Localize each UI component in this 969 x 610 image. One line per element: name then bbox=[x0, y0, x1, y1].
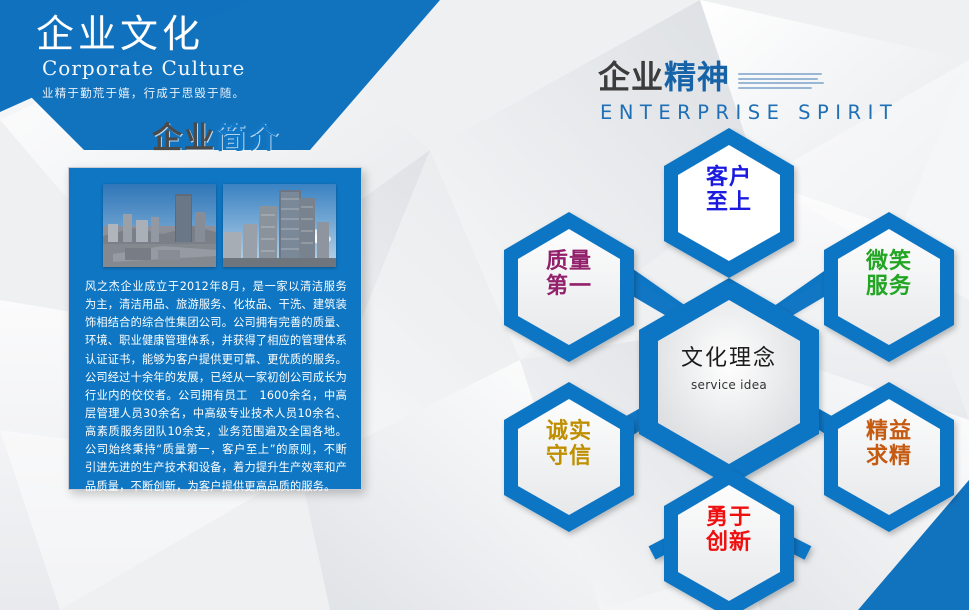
spirit-title-cn-part1: 企业 bbox=[598, 52, 664, 98]
banner-title-en: Corporate Culture bbox=[42, 56, 366, 80]
hexagon-smile-service[interactable] bbox=[824, 212, 954, 362]
photo-row bbox=[103, 184, 336, 267]
center-title-cn: 文化理念 bbox=[639, 340, 819, 372]
company-intro-text: 风之杰企业成立于2012年8月，是一家以清洁服务为主，清洁用品、旅游服务、化妆品… bbox=[85, 278, 347, 496]
center-title-en: service idea bbox=[639, 378, 819, 392]
spirit-title-en: ENTERPRISE SPIRIT bbox=[600, 101, 898, 124]
hexagon-integrity[interactable] bbox=[504, 382, 634, 532]
intro-heading-part2: 简介 bbox=[216, 121, 280, 156]
intro-heading: 企业简介 bbox=[152, 113, 280, 157]
city-towers-photo bbox=[223, 184, 336, 267]
company-intro-panel: 风之杰企业成立于2012年8月，是一家以清洁服务为主，清洁用品、旅游服务、化妆品… bbox=[68, 167, 362, 490]
decorative-microtext bbox=[738, 73, 824, 91]
hexagon-customer-first[interactable] bbox=[664, 128, 794, 278]
spirit-title-cn-part2: 精神 bbox=[664, 52, 730, 98]
hexagon-excellence[interactable] bbox=[824, 382, 954, 532]
banner-text-group: 企业文化 Corporate Culture 业精于勤荒于嬉，行成于思毁于随。 bbox=[36, 14, 366, 101]
city-skyline-photo bbox=[103, 184, 216, 267]
hexagon-innovation[interactable] bbox=[664, 468, 794, 610]
banner-title-cn: 企业文化 bbox=[36, 14, 366, 55]
spirit-heading: 企业精神 ENTERPRISE SPIRIT bbox=[598, 52, 898, 124]
banner-subtitle: 业精于勤荒于嬉，行成于思毁于随。 bbox=[42, 85, 366, 101]
intro-heading-part1: 企业 bbox=[152, 121, 216, 156]
hexagon-center-label: 文化理念 service idea bbox=[639, 340, 819, 392]
culture-hexagon-diagram: 文化理念 service idea 客户 至上 质量 第一 微笑 服务 诚实 守… bbox=[490, 128, 969, 610]
slide-canvas: 企业文化 Corporate Culture 业精于勤荒于嬉，行成于思毁于随。 … bbox=[0, 0, 969, 610]
hexagon-quality-first[interactable] bbox=[504, 212, 634, 362]
